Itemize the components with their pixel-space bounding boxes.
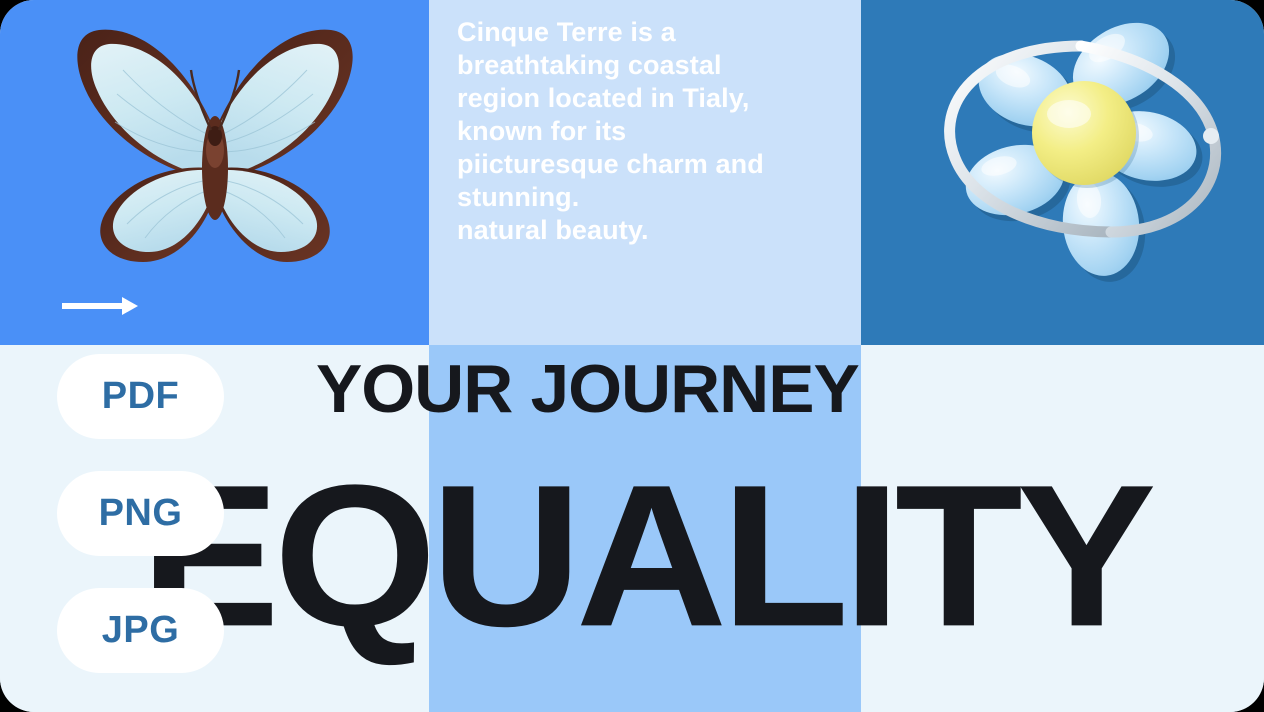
description-text: Cinque Terre is a breathtaking coastal r… (457, 16, 837, 247)
format-pill-label: PDF (102, 375, 180, 418)
page-title: EQUALITY (140, 455, 1150, 657)
next-arrow[interactable] (62, 293, 148, 319)
butterfly-image (45, 18, 385, 283)
format-pill-label: PNG (99, 492, 183, 535)
flower-image (921, 18, 1241, 298)
format-pill-label: JPG (102, 609, 180, 652)
butterfly-image-panel (0, 0, 429, 345)
eyebrow-heading: YOUR JOURNEY (316, 355, 859, 423)
description-panel: Cinque Terre is a breathtaking coastal r… (429, 0, 861, 345)
format-pill-jpg[interactable]: JPG (57, 588, 224, 673)
format-pill-png[interactable]: PNG (57, 471, 224, 556)
format-pill-pdf[interactable]: PDF (57, 354, 224, 439)
poster-card: Cinque Terre is a breathtaking coastal r… (0, 0, 1264, 712)
flower-image-panel (861, 0, 1264, 345)
